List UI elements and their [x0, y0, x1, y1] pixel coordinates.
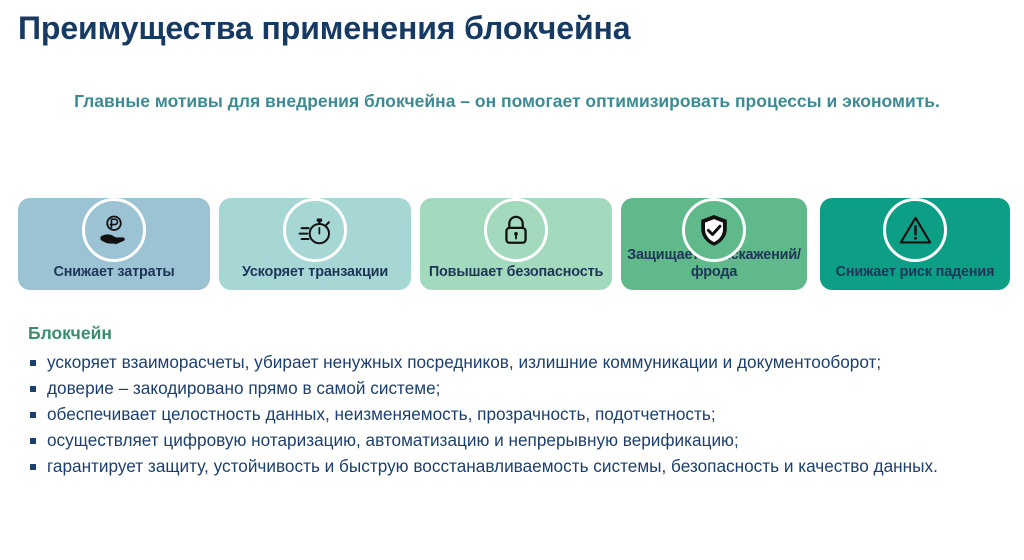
slide-subtitle: Главные мотивы для внедрения блокчейна –…: [32, 88, 982, 115]
blockchain-benefits-list: ускоряет взаиморасчеты, убирает ненужных…: [28, 349, 1003, 480]
slide-root: Преимущества применения блокчейна Главны…: [0, 0, 1024, 560]
list-item: доверие – закодировано прямо в самой сис…: [28, 375, 1003, 401]
shield-check-icon: [682, 198, 746, 262]
benefit-card-label: Ускоряет транзакции: [225, 264, 405, 281]
padlock-icon: [484, 198, 548, 262]
list-item: гарантирует защиту, устойчивость и быстр…: [28, 453, 1003, 479]
list-item: обеспечивает целостность данных, неизмен…: [28, 401, 1003, 427]
list-item: осуществляет цифровую нотаризацию, автом…: [28, 427, 1003, 453]
benefit-card-label: Повышает безопасность: [426, 264, 606, 281]
page-title: Преимущества применения блокчейна: [18, 8, 998, 50]
blockchain-details-block: Блокчейн ускоряет взаиморасчеты, убирает…: [28, 322, 1003, 479]
hand-with-ruble-coin-icon: [82, 198, 146, 262]
benefit-card-security[interactable]: Повышает безопасность: [420, 198, 612, 290]
warning-triangle-icon: [883, 198, 947, 262]
benefit-card-label: Снижает затраты: [24, 264, 204, 281]
list-item: ускоряет взаиморасчеты, убирает ненужных…: [28, 349, 1003, 375]
benefit-cards-row: Снижает затраты Ускоряет транзакции: [18, 168, 1010, 293]
benefit-card-fraud-protection[interactable]: Защищает от искажений/фрода: [621, 198, 807, 290]
benefit-card-reduce-costs[interactable]: Снижает затраты: [18, 198, 210, 290]
stopwatch-speed-icon: [283, 198, 347, 262]
benefit-card-speed-transactions[interactable]: Ускоряет транзакции: [219, 198, 411, 290]
benefit-card-reduce-failure-risk[interactable]: Снижает риск падения: [820, 198, 1010, 290]
benefit-card-label: Снижает риск падения: [826, 264, 1004, 281]
body-heading: Блокчейн: [28, 322, 1003, 345]
